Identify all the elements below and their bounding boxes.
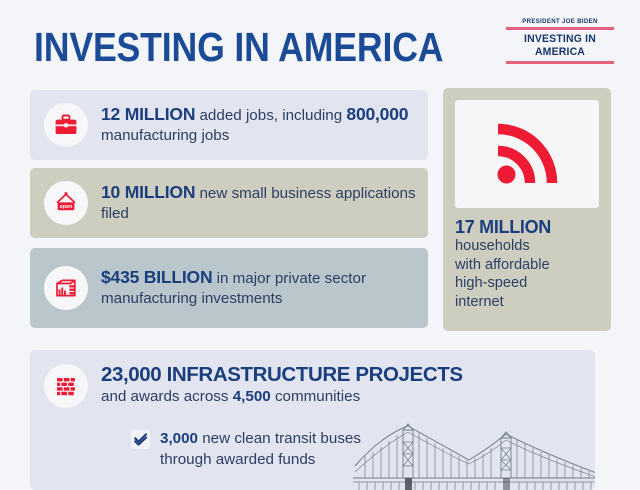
header: INVESTING IN AMERICA PRESIDENT JOE BIDEN… [0,0,640,85]
bullet-desc-line2: through awarded funds [160,449,361,470]
infrastructure-bullet-text: 3,000 new clean transit buses through aw… [160,428,361,470]
stat-value-small-business: 10 MILLION [101,182,195,202]
broadband-line-4: internet [455,293,599,312]
brand-logo: PRESIDENT JOE BIDEN INVESTING IN AMERICA [506,18,614,64]
broadband-image-box [455,100,599,208]
stat-card-jobs: 12 MILLION added jobs, including 800,000… [30,90,428,160]
svg-text:open: open [60,204,73,210]
infrastructure-sub-after: communities [271,388,360,405]
infrastructure-title: 23,000 INFRASTRUCTURE PROJECTS [101,364,463,386]
stat-text-small-business: 10 MILLION new small business applicatio… [101,182,428,224]
stat-card-manufacturing: $435 BILLION in major private sector man… [30,248,428,328]
logo-line-2: AMERICA [509,46,612,59]
logo-president-line: PRESIDENT JOE BIDEN [509,18,612,25]
stat-desc-jobs-2: manufacturing jobs [101,127,229,144]
broadband-line-2: with affordable [455,256,599,275]
broadband-line-1: households [455,237,599,256]
infrastructure-sub-before: and awards across [101,388,233,405]
broadband-headline: 17 MILLION [455,217,599,237]
infrastructure-sub-value: 4,500 [233,388,271,405]
stat-card-broadband: 17 MILLION households with affordable hi… [443,88,611,331]
stat-desc-jobs: added jobs, including [195,107,346,124]
stat-value-jobs: 12 MILLION [101,104,195,124]
stat-card-small-business: open 10 MILLION new small business appli… [30,168,428,238]
infrastructure-subtitle: and awards across 4,500 communities [101,387,463,407]
broadband-description: households with affordable high-speed in… [455,237,599,311]
logo-rule-bottom [506,61,614,64]
brick-wall-icon [44,364,88,408]
briefcase-icon [44,103,88,147]
stat-card-infrastructure: 23,000 INFRASTRUCTURE PROJECTS and award… [30,350,595,490]
wifi-signal-icon [486,113,568,195]
infrastructure-bullet: 3,000 new clean transit buses through aw… [131,428,361,470]
logo-line-1: INVESTING IN [509,33,612,46]
stat-value-manufacturing: $435 BILLION [101,267,212,287]
infrastructure-header: 23,000 INFRASTRUCTURE PROJECTS and award… [44,362,463,408]
page-title: INVESTING IN AMERICA [34,26,443,68]
bridge-illustration [351,416,595,490]
broadband-line-3: high-speed [455,274,599,293]
bullet-value: 3,000 [160,430,198,447]
infographic-page: INVESTING IN AMERICA PRESIDENT JOE BIDEN… [0,0,640,480]
double-check-icon [131,430,150,449]
bullet-desc: new clean transit buses [198,430,361,447]
stat-text-manufacturing: $435 BILLION in major private sector man… [101,267,428,309]
factory-icon [44,266,88,310]
stat-text-jobs: 12 MILLION added jobs, including 800,000… [101,104,428,146]
stat-value-jobs-2: 800,000 [346,104,408,124]
open-sign-icon: open [44,181,88,225]
